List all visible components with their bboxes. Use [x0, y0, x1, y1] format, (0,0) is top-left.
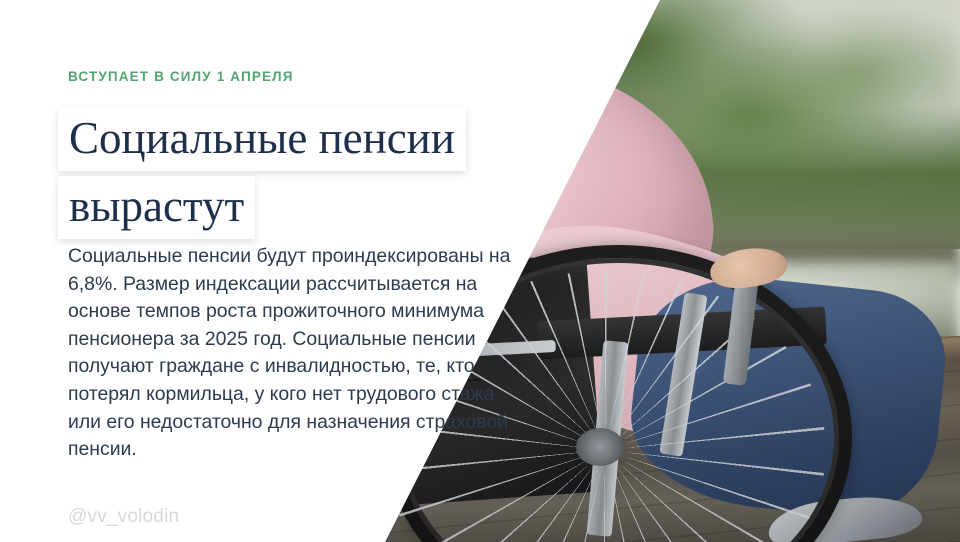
page-title-line-1: Социальные пенсии [58, 108, 466, 171]
author-handle: @vv_volodin [68, 506, 179, 528]
body-paragraph: Социальные пенсии будут проиндексированы… [68, 243, 528, 464]
photo-chair-rear-hub [576, 428, 624, 466]
poster-canvas: ВСТУПАЕТ В СИЛУ 1 АПРЕЛЯ Социальные пенс… [0, 0, 960, 542]
page-title: Социальные пенсии вырастут [58, 108, 518, 244]
text-content: ВСТУПАЕТ В СИЛУ 1 АПРЕЛЯ Социальные пенс… [68, 0, 538, 542]
eyebrow-effective-date: ВСТУПАЕТ В СИЛУ 1 АПРЕЛЯ [68, 69, 294, 84]
page-title-line-2: вырастут [58, 176, 255, 239]
